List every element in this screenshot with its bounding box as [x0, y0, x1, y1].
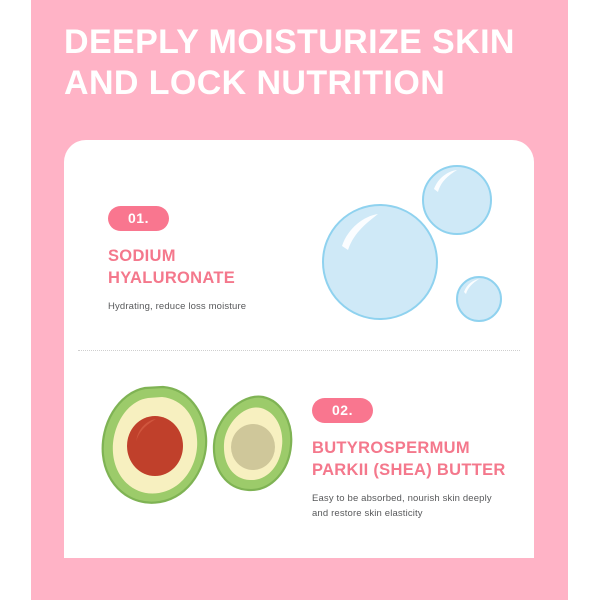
bubble-large-icon: [323, 205, 437, 319]
ingredient-1-description-line-1: Hydrating, reduce loss moisture: [108, 300, 338, 315]
ingredient-2-name-line-1: BUTYROSPERMUM: [312, 437, 527, 459]
ingredient-block-2: 02. BUTYROSPERMUM PARKII (SHEA) BUTTER E…: [312, 398, 527, 521]
ingredient-2-name: BUTYROSPERMUM PARKII (SHEA) BUTTER: [312, 437, 527, 482]
avocado-large-half-icon: [103, 387, 206, 503]
ingredient-block-1: 01. SODIUM HYALURONATE Hydrating, reduce…: [108, 206, 338, 315]
ingredient-1-name-line-2: HYALURONATE: [108, 267, 338, 289]
section-divider: [78, 350, 520, 351]
ingredient-2-badge: 02.: [312, 398, 373, 423]
avocado-halves-illustration: [100, 385, 305, 505]
ingredient-1-name-line-1: SODIUM: [108, 245, 338, 267]
ingredient-1-name: SODIUM HYALURONATE: [108, 245, 338, 290]
ingredient-2-description-line-1: Easy to be absorbed, nourish skin deeply: [312, 492, 527, 507]
ingredient-1-description: Hydrating, reduce loss moisture: [108, 300, 338, 315]
infographic-canvas: DEEPLY MOISTURIZE SKIN AND LOCK NUTRITIO…: [0, 0, 600, 600]
ingredient-2-description: Easy to be absorbed, nourish skin deeply…: [312, 492, 527, 521]
ingredient-1-badge: 01.: [108, 206, 169, 231]
page-title-line-1: DEEPLY MOISTURIZE SKIN: [64, 22, 534, 63]
ingredients-card: 01. SODIUM HYALURONATE Hydrating, reduce…: [64, 140, 534, 558]
ingredient-2-description-line-2: and restore skin elasticity: [312, 507, 527, 522]
ingredient-2-name-line-2: PARKII (SHEA) BUTTER: [312, 459, 527, 481]
bubble-small-icon: [457, 277, 501, 321]
page-title: DEEPLY MOISTURIZE SKIN AND LOCK NUTRITIO…: [64, 22, 534, 105]
bubble-medium-icon: [423, 166, 491, 234]
avocado-small-half-icon: [214, 397, 291, 490]
page-title-line-2: AND LOCK NUTRITION: [64, 63, 534, 104]
water-bubbles-illustration: [312, 154, 522, 329]
